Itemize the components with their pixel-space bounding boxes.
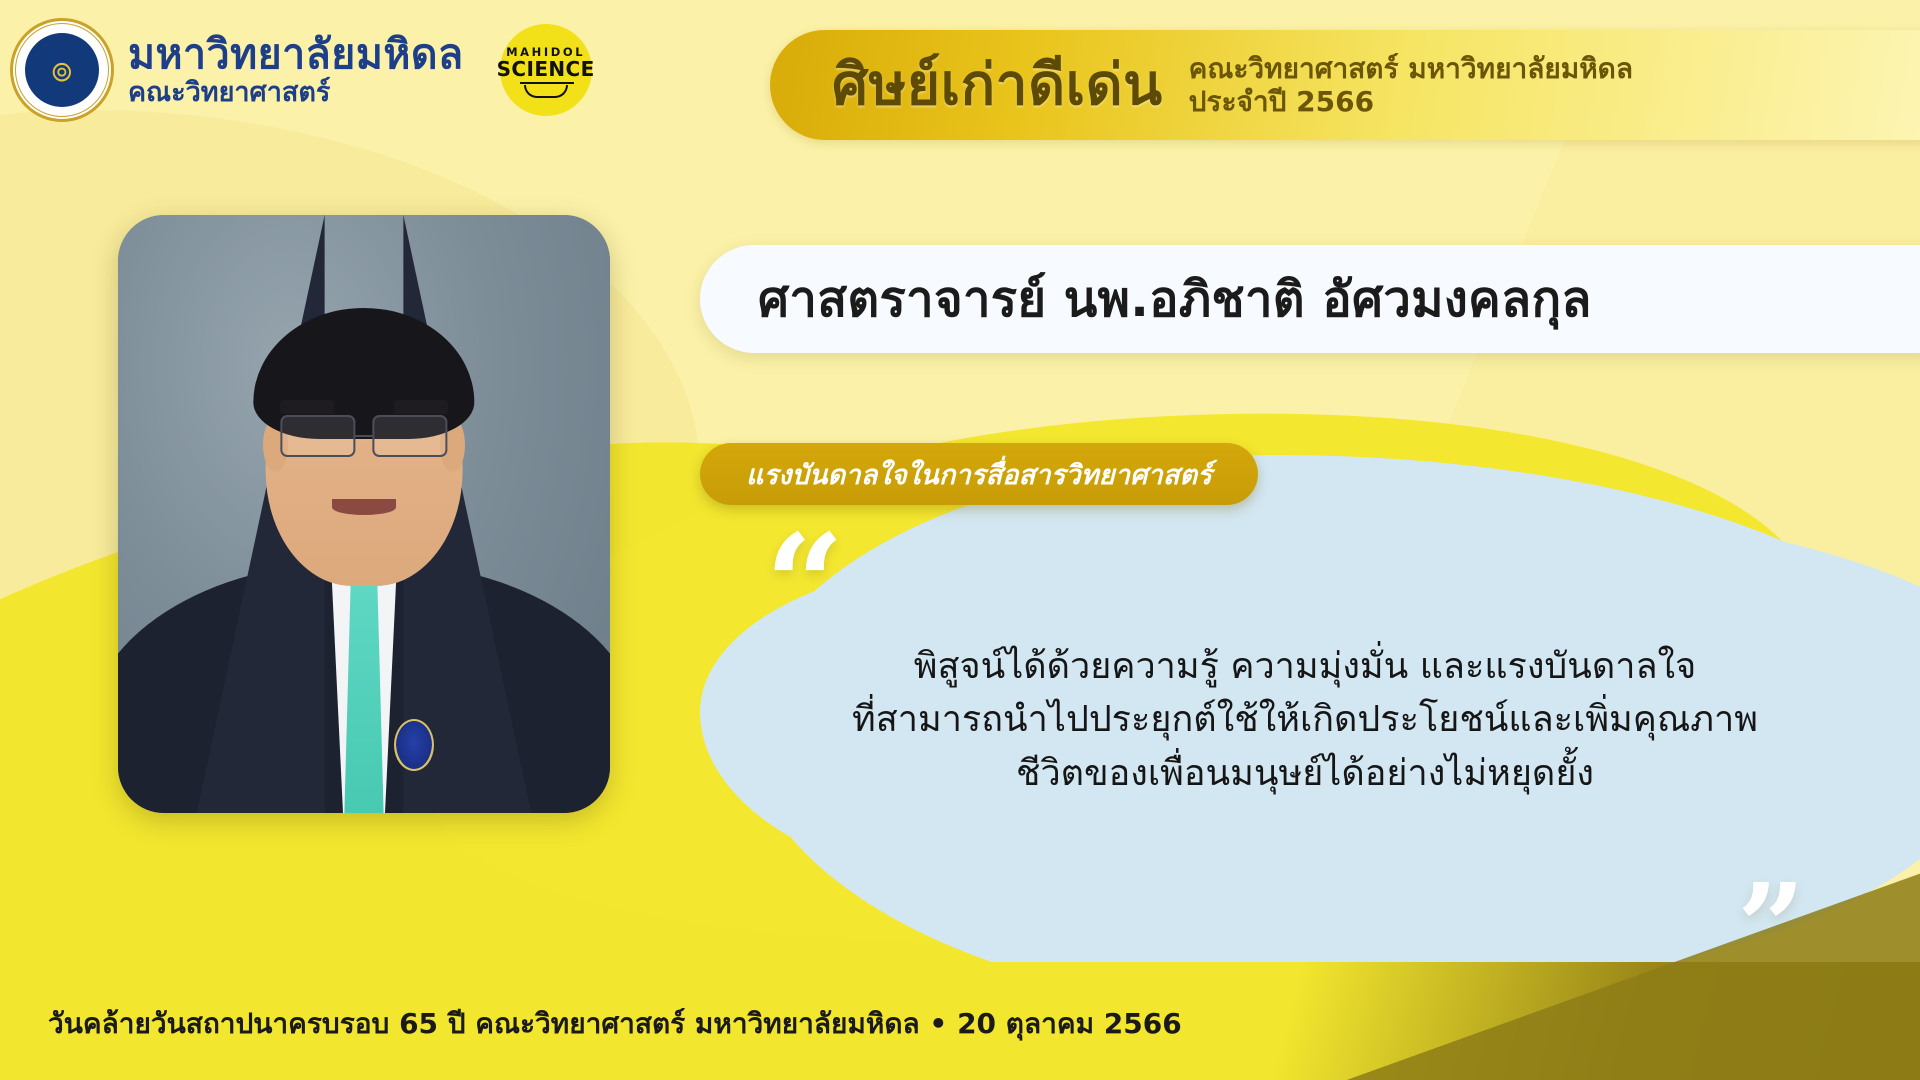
award-category-ribbon: แรงบันดาลใจในการสื่อสารวิทยาศาสตร์: [700, 443, 1258, 505]
university-name-block: มหาวิทยาลัยมหิดล คณะวิทยาศาสตร์: [128, 34, 464, 106]
quote-text-block: พิสูจน์ได้ด้วยความรู้ ความมุ่งมั่น และแร…: [760, 640, 1850, 800]
portrait-lens-left: [280, 415, 355, 457]
award-title-banner: ศิษย์เก่าดีเด่น คณะวิทยาศาสตร์ มหาวิทยาล…: [770, 30, 1920, 140]
award-title-main: ศิษย์เก่าดีเด่น: [832, 40, 1163, 130]
award-title-side-line1: คณะวิทยาศาสตร์ มหาวิทยาลัยมหิดล: [1189, 52, 1633, 85]
footer-anniversary-text: วันคล้ายวันสถาปนาครบรอบ 65 ปี คณะวิทยาศา…: [48, 1002, 1182, 1046]
badge-bowl-icon: [524, 85, 568, 98]
portrait-eyebrow-right: [394, 400, 448, 413]
awardee-name: ศาสตราจารย์ นพ.อภิชาติ อัศวมงคลกุล: [758, 260, 1592, 338]
portrait-eyeglasses-icon: [280, 415, 447, 457]
award-title-side: คณะวิทยาศาสตร์ มหาวิทยาลัยมหิดล ประจำปี …: [1189, 52, 1633, 118]
portrait-lens-right: [372, 415, 447, 457]
quote-line: ที่สามารถนำไปประยุกต์ใช้ให้เกิดประโยชน์แ…: [760, 693, 1850, 746]
university-name-th: มหาวิทยาลัยมหิดล: [128, 34, 464, 75]
portrait-university-emblem-icon: [394, 719, 434, 771]
awardee-portrait-photo: [118, 215, 610, 813]
badge-main-label: SCIENCE: [497, 59, 595, 79]
awardee-name-plate: ศาสตราจารย์ นพ.อภิชาติ อัศวมงคลกุล: [700, 245, 1920, 353]
portrait-eyebrow-left: [280, 400, 334, 413]
portrait-glasses-bridge: [356, 435, 373, 437]
brand-logo-row: ๏ มหาวิทยาลัยมหิดล คณะวิทยาศาสตร์ MAHIDO…: [10, 18, 592, 122]
quote-close-mark-icon: ”: [1737, 885, 1805, 970]
quote-line: ชีวิตของเพื่อนมนุษย์ได้อย่างไม่หยุดยั้ง: [760, 747, 1850, 800]
quote-line: พิสูจน์ได้ด้วยความรู้ ความมุ่งมั่น และแร…: [760, 640, 1850, 693]
faculty-name-th: คณะวิทยาศาสตร์: [128, 79, 464, 106]
mahidol-seal-icon: ๏: [10, 18, 114, 122]
mahidol-science-badge-icon: MAHIDOL SCIENCE: [500, 24, 592, 116]
portrait-mouth: [332, 499, 396, 515]
seal-ring: [15, 23, 109, 117]
award-category-label: แรงบันดาลใจในการสื่อสารวิทยาศาสตร์: [746, 453, 1212, 496]
quote-open-mark-icon: “: [765, 535, 844, 634]
award-title-side-line2: ประจำปี 2566: [1189, 85, 1633, 118]
